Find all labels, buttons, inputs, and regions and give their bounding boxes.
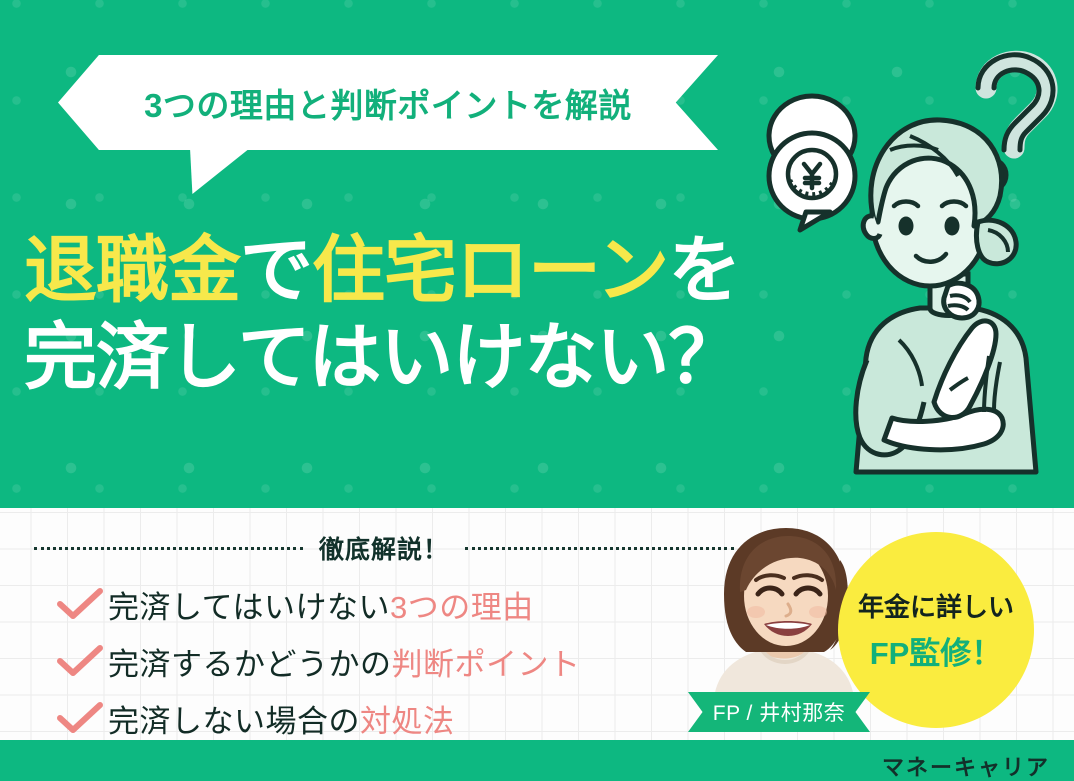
check-icon <box>52 700 108 736</box>
list-item-plain: 完済してはいけない <box>108 590 390 625</box>
checklist: 完済してはいけない3つの理由 完済するかどうかの判断ポイント 完済しない場合の対… <box>52 580 581 751</box>
title-line-2: 完済してはいけない？ <box>24 319 864 398</box>
list-item-plain: 完済しない場合の <box>108 704 360 739</box>
badge-line-1: 年金に詳しい <box>858 587 1014 624</box>
title-line-1: 退職金で住宅ローンを <box>24 232 864 311</box>
banner-label: 3つの理由と判断ポイントを解説 <box>144 79 632 127</box>
list-item-text: 完済するかどうかの判断ポイント <box>108 639 581 684</box>
brand-logo: マネーキャリア <box>882 750 1050 781</box>
title-plain-2: を <box>668 230 740 311</box>
dashed-rule-left <box>34 547 303 550</box>
title-highlight-1: 退職金 <box>24 230 240 311</box>
badge-line-2: FP監修！ <box>870 628 1003 673</box>
title-plain-1: で <box>240 230 312 311</box>
fp-supervision-badge: 年金に詳しい FP監修！ <box>838 532 1034 728</box>
list-item-emphasis: 判断ポイント <box>392 647 581 682</box>
thumbnail-canvas: 3つの理由と判断ポイントを解説 退職金で住宅ローンを 完済してはいけない？ 徹底… <box>0 0 1074 781</box>
list-item-text: 完済しない場合の対処法 <box>108 696 455 741</box>
list-item-emphasis: 対処法 <box>360 704 455 739</box>
title-highlight-2: 住宅ローン <box>312 230 668 311</box>
hand <box>944 283 979 318</box>
list-item: 完済してはいけない3つの理由 <box>52 580 581 628</box>
list-item-plain: 完済するかどうかの <box>108 647 392 682</box>
advisor-name-label: FP / 井村那奈 <box>713 697 845 727</box>
list-item: 完済しない場合の対処法 <box>52 694 581 742</box>
yen-coin-speech-bubble <box>769 96 855 230</box>
woman-head <box>863 120 1016 286</box>
woman-body <box>856 308 1036 472</box>
headline-banner: 3つの理由と判断ポイントを解説 <box>58 55 718 150</box>
check-icon <box>52 586 108 622</box>
section-heading-label: 徹底解説！ <box>319 530 449 566</box>
hero-section: 3つの理由と判断ポイントを解説 退職金で住宅ローンを 完済してはいけない？ <box>0 0 1074 508</box>
check-icon <box>52 643 108 679</box>
page-title: 退職金で住宅ローンを 完済してはいけない？ <box>24 232 864 398</box>
section-heading-row: 徹底解説！ <box>34 535 734 561</box>
list-item-emphasis: 3つの理由 <box>390 590 534 625</box>
list-item: 完済するかどうかの判断ポイント <box>52 637 581 685</box>
advisor-name-ribbon: FP / 井村那奈 <box>688 692 870 732</box>
list-item-text: 完済してはいけない3つの理由 <box>108 582 534 627</box>
dashed-rule-right <box>465 547 734 550</box>
